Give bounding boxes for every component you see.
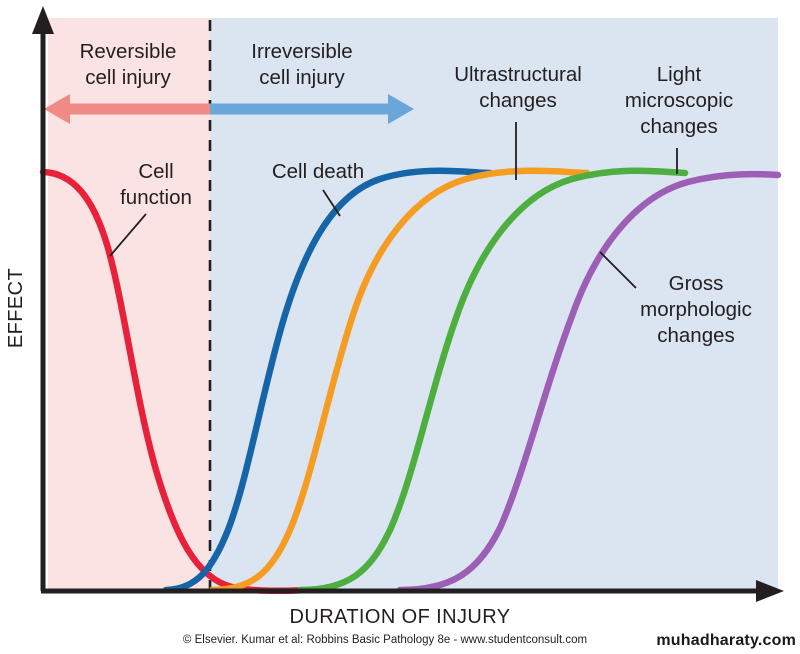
x-axis-title: DURATION OF INJURY <box>290 606 511 628</box>
copyright-credit: © Elsevier. Kumar et al: Robbins Basic P… <box>183 634 587 646</box>
cell-function-label-line1: Cell <box>138 160 173 183</box>
ultrastructural-label-line1: Ultrastructural <box>454 63 582 86</box>
reversible-label-line1: Reversible <box>80 40 177 63</box>
irreversible-label-line1: Irreversible <box>251 40 352 63</box>
cell-function-label-line2: function <box>120 186 192 209</box>
ultrastructural-label-line2: changes <box>479 89 557 112</box>
light-micro-label-line1: Light <box>657 63 702 86</box>
reversible-label-line2: cell injury <box>85 66 171 89</box>
gross-label-line1: Gross <box>669 272 724 295</box>
site-watermark: muhadharaty.com <box>656 632 796 649</box>
cell-death-label: Cell death <box>272 160 364 183</box>
irreversible-label-line2: cell injury <box>259 66 345 89</box>
gross-label-line2: morphologic <box>640 298 752 321</box>
gross-label-line3: changes <box>657 324 735 347</box>
light-micro-label-line2: microscopic <box>625 89 733 112</box>
injury-effect-chart: Reversible cell injury Irreversible cell… <box>0 0 800 654</box>
light-micro-label-line3: changes <box>640 115 718 138</box>
y-axis-title: EFFECT <box>5 268 27 348</box>
